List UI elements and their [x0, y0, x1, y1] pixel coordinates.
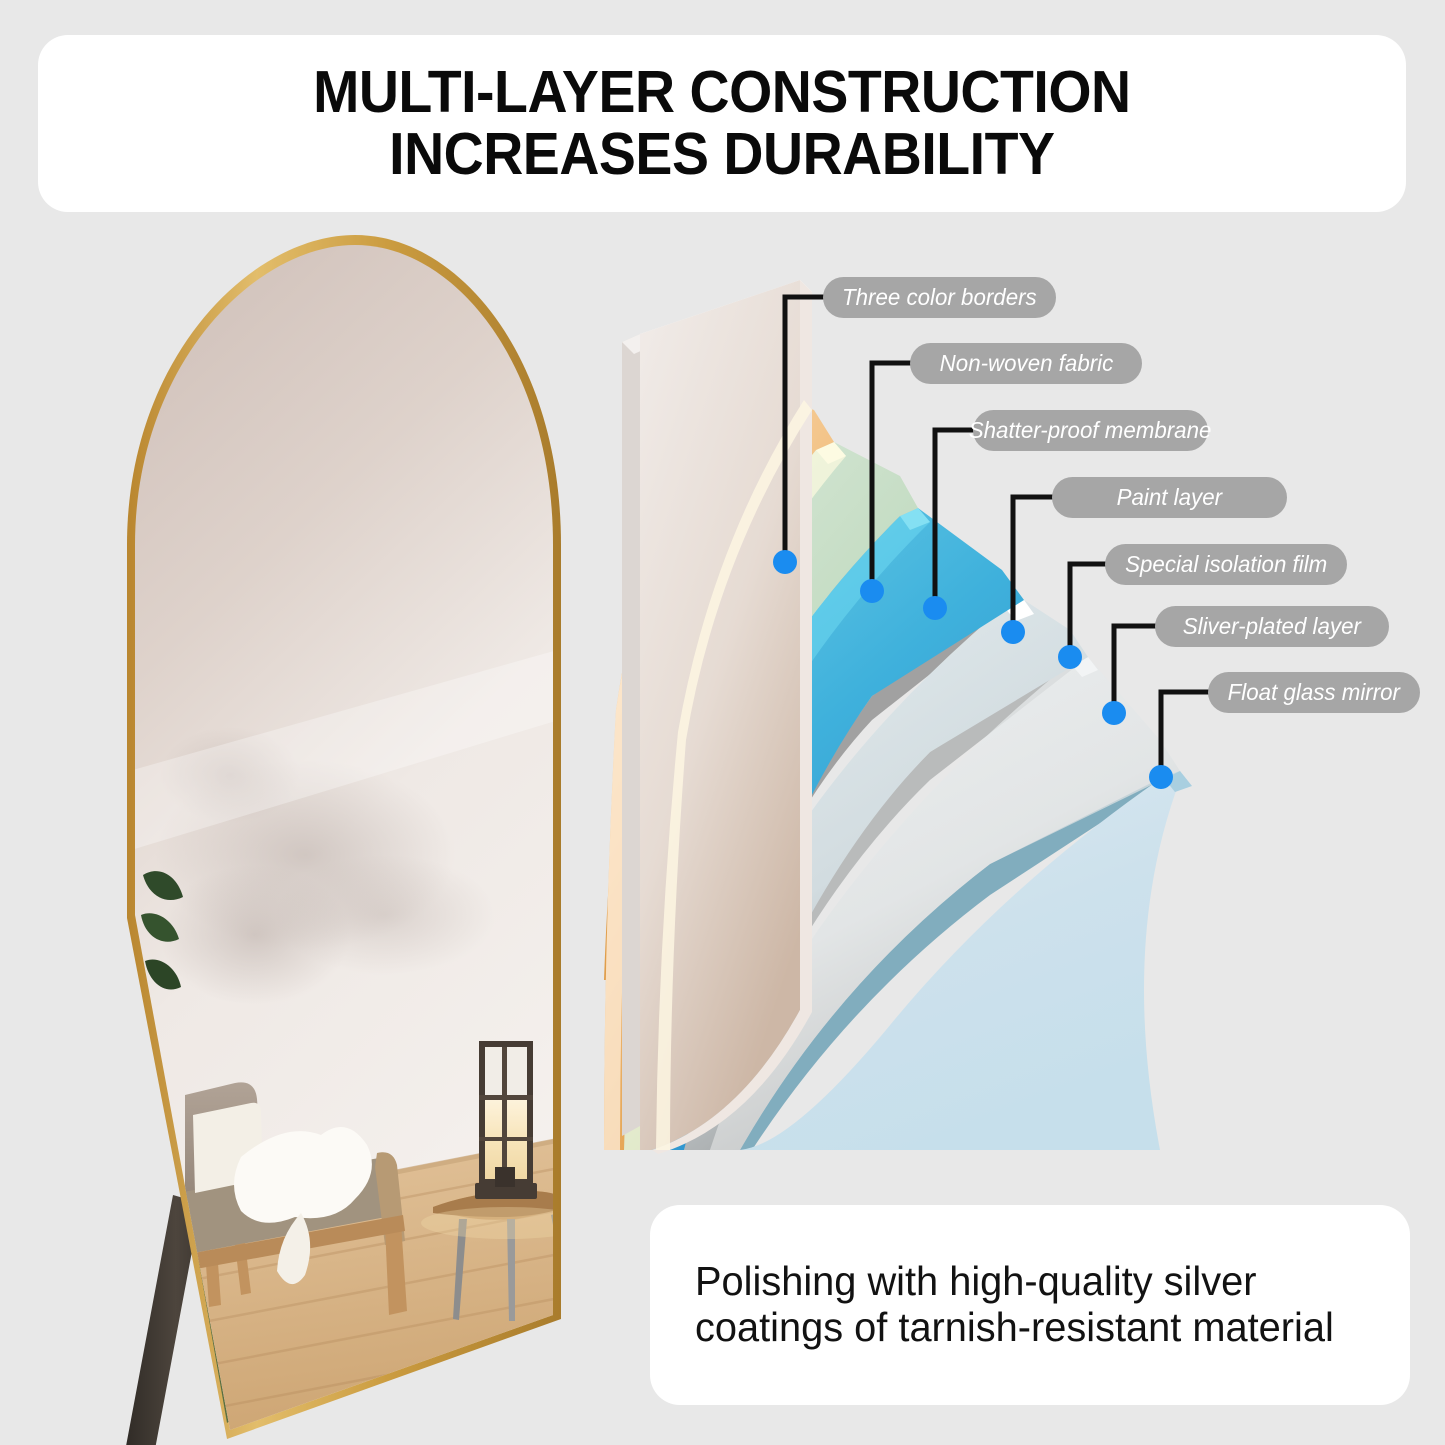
caption-card: Polishing with high-quality silver coati… [650, 1205, 1410, 1405]
callout-paint-layer[interactable]: Paint layer [1052, 477, 1287, 518]
page-title: MULTI-LAYER CONSTRUCTION INCREASES DURAB… [313, 62, 1131, 185]
callout-special-isolation-film[interactable]: Special isolation film [1105, 544, 1347, 585]
callout-shatter-proof-membrane[interactable]: Shatter-proof membrane [973, 410, 1208, 451]
callout-float-glass-mirror[interactable]: Float glass mirror [1208, 672, 1420, 713]
callout-label: Three color borders [842, 284, 1037, 311]
callout-label: Sliver-plated layer [1183, 613, 1361, 640]
callout-label: Shatter-proof membrane [969, 417, 1212, 444]
callout-sliver-plated-layer[interactable]: Sliver-plated layer [1155, 606, 1389, 647]
callout-three-color-borders[interactable]: Three color borders [823, 277, 1056, 318]
callout-label: Float glass mirror [1228, 679, 1400, 706]
callout-label: Non-woven fabric [939, 350, 1113, 377]
product-mirror-image [55, 215, 615, 1445]
callout-non-woven-fabric[interactable]: Non-woven fabric [910, 343, 1142, 384]
caption-text: Polishing with high-quality silver coati… [695, 1259, 1334, 1351]
header-card: MULTI-LAYER CONSTRUCTION INCREASES DURAB… [38, 35, 1406, 212]
mirror-illustration [55, 215, 615, 1445]
layer-three-color-borders [622, 280, 812, 1154]
callout-label: Special isolation film [1125, 551, 1327, 578]
callout-label: Paint layer [1117, 484, 1222, 511]
